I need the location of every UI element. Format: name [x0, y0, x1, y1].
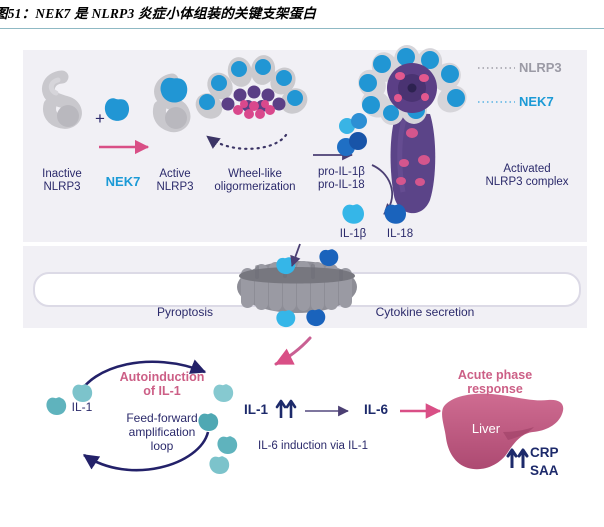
panel-inflammasome-assembly	[23, 50, 587, 242]
to-amplification-arrow	[276, 338, 310, 364]
label-il1b: IL-1β	[330, 228, 376, 241]
callout-nek7: NEK7	[519, 95, 589, 108]
label-pyroptosis: Pyroptosis	[135, 306, 235, 319]
label-il6-induction: IL-6 induction via IL-1	[228, 440, 398, 453]
label-inactive-nlrp3-line1: Inactive	[26, 168, 98, 181]
cell-membrane	[33, 272, 581, 307]
label-acute-phase-line2: response	[430, 383, 560, 396]
plus-sign: +	[92, 112, 108, 125]
label-il1-upregulated: IL-1	[232, 403, 280, 416]
label-il6: IL-6	[352, 403, 400, 416]
label-loop-line1: Feed-forward	[102, 412, 222, 425]
label-autoinduction-line2: of IL-1	[100, 385, 224, 398]
label-loop-line2: amplification	[102, 426, 222, 439]
label-saa: SAA	[530, 464, 576, 477]
label-cytokine-secretion: Cytokine secretion	[350, 306, 500, 319]
label-inactive-nlrp3-line2: NLRP3	[26, 181, 98, 194]
label-acute-phase-line1: Acute phase	[430, 369, 560, 382]
label-pro-il18: pro-IL-18	[318, 179, 388, 192]
label-liver: Liver	[457, 422, 515, 435]
callout-nlrp3: NLRP3	[519, 61, 589, 74]
title-divider	[0, 28, 604, 29]
label-activated-complex-line1: Activated	[470, 163, 584, 176]
label-active-nlrp3-line1: Active	[142, 168, 208, 181]
label-activated-complex-line2: NLRP3 complex	[462, 176, 592, 189]
label-il1-left: IL-1	[60, 401, 104, 414]
label-crp: CRP	[530, 446, 576, 459]
page-title: 图51：NEK7 是 NLRP3 炎症小体组装的关键支架蛋白	[0, 2, 594, 22]
figure-title-bar: 图51：NEK7 是 NLRP3 炎症小体组装的关键支架蛋白	[0, 0, 604, 30]
label-pro-il1b: pro-IL-1β	[318, 166, 388, 179]
crp-saa-up-arrows	[508, 450, 527, 468]
label-autoinduction-line1: Autoinduction	[100, 371, 224, 384]
label-il18: IL-18	[378, 228, 422, 241]
label-loop-line3: loop	[102, 440, 222, 453]
label-wheel-line1: Wheel-like	[203, 168, 307, 181]
label-wheel-line2: oligormerization	[196, 181, 314, 194]
